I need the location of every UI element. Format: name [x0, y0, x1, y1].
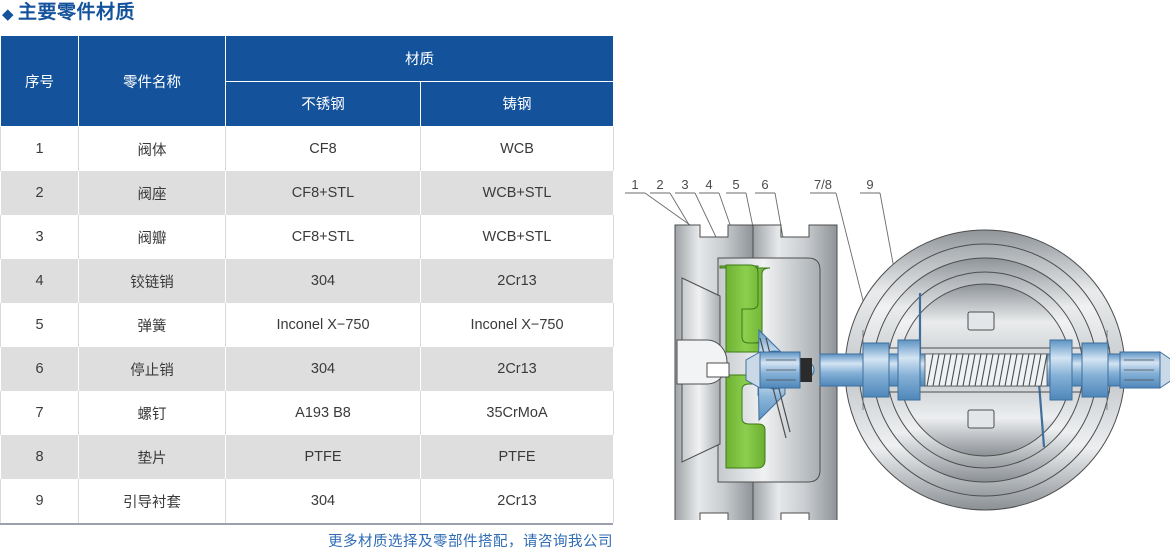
- page-title-text: 主要零件材质: [18, 0, 135, 26]
- cell-no: 2: [1, 171, 79, 215]
- table-row: 9引导衬套3042Cr13: [1, 479, 614, 523]
- callout-1-label: 1: [631, 177, 638, 192]
- column-header-material: 材质: [226, 36, 614, 82]
- material-table: 序号 零件名称 材质 不锈钢 铸钢 1阀体CF8WCB2阀座CF8+STLWCB…: [0, 35, 614, 523]
- callout-2-label: 2: [656, 177, 663, 192]
- page-title: ◆ 主要零件材质: [2, 0, 135, 26]
- table-row: 4铰链销3042Cr13: [1, 259, 614, 303]
- cell-name: 阀体: [79, 127, 226, 172]
- table-row: 1阀体CF8WCB: [1, 127, 614, 172]
- callout-4-label: 4: [705, 177, 712, 192]
- table-row: 7螺钉A193 B835CrMoA: [1, 391, 614, 435]
- callout-9-label: 9: [866, 177, 873, 192]
- table-underline: [0, 523, 613, 525]
- cell-name: 螺钉: [79, 391, 226, 435]
- cell-no: 3: [1, 215, 79, 259]
- cell-no: 5: [1, 303, 79, 347]
- cell-ss: 304: [226, 347, 421, 391]
- cell-ss: PTFE: [226, 435, 421, 479]
- callout-5-label: 5: [732, 177, 739, 192]
- callout-3-label: 3: [681, 177, 688, 192]
- cell-no: 8: [1, 435, 79, 479]
- cell-cs: 2Cr13: [421, 259, 614, 303]
- callout-7-8-label: 7/8: [814, 177, 832, 192]
- column-header-cast-steel: 铸钢: [421, 81, 614, 127]
- cell-cs: 35CrMoA: [421, 391, 614, 435]
- cell-no: 6: [1, 347, 79, 391]
- cell-name: 停止销: [79, 347, 226, 391]
- table-row: 5弹簧Inconel X−750Inconel X−750: [1, 303, 614, 347]
- column-header-no: 序号: [1, 36, 79, 127]
- table-row: 8垫片PTFEPTFE: [1, 435, 614, 479]
- column-header-part-name: 零件名称: [79, 36, 226, 127]
- cell-cs: PTFE: [421, 435, 614, 479]
- cell-ss: 304: [226, 479, 421, 523]
- table-row: 3阀瓣CF8+STLWCB+STL: [1, 215, 614, 259]
- cell-ss: 304: [226, 259, 421, 303]
- cell-cs: Inconel X−750: [421, 303, 614, 347]
- cell-no: 4: [1, 259, 79, 303]
- table-header: 序号 零件名称 材质 不锈钢 铸钢: [1, 36, 614, 127]
- cell-name: 弹簧: [79, 303, 226, 347]
- cell-cs: 2Cr13: [421, 347, 614, 391]
- cell-ss: CF8+STL: [226, 171, 421, 215]
- cell-ss: CF8+STL: [226, 215, 421, 259]
- cell-name: 阀座: [79, 171, 226, 215]
- cell-cs: WCB: [421, 127, 614, 172]
- cell-cs: 2Cr13: [421, 479, 614, 523]
- cell-ss: CF8: [226, 127, 421, 172]
- cell-name: 引导衬套: [79, 479, 226, 523]
- cell-no: 1: [1, 127, 79, 172]
- cell-no: 7: [1, 391, 79, 435]
- callout-6-label: 6: [761, 177, 768, 192]
- cell-name: 垫片: [79, 435, 226, 479]
- table-row: 2阀座CF8+STLWCB+STL: [1, 171, 614, 215]
- table-body: 1阀体CF8WCB2阀座CF8+STLWCB+STL3阀瓣CF8+STLWCB+…: [1, 127, 614, 524]
- cell-cs: WCB+STL: [421, 171, 614, 215]
- cell-name: 铰链销: [79, 259, 226, 303]
- valve-technical-drawing: 1 2 3 4 5 6 7/8 9: [620, 170, 1170, 520]
- cell-cs: WCB+STL: [421, 215, 614, 259]
- table-row: 6停止销3042Cr13: [1, 347, 614, 391]
- diamond-bullet-icon: ◆: [2, 7, 14, 22]
- cell-name: 阀瓣: [79, 215, 226, 259]
- column-header-stainless: 不锈钢: [226, 81, 421, 127]
- cell-ss: Inconel X−750: [226, 303, 421, 347]
- cell-ss: A193 B8: [226, 391, 421, 435]
- cell-no: 9: [1, 479, 79, 523]
